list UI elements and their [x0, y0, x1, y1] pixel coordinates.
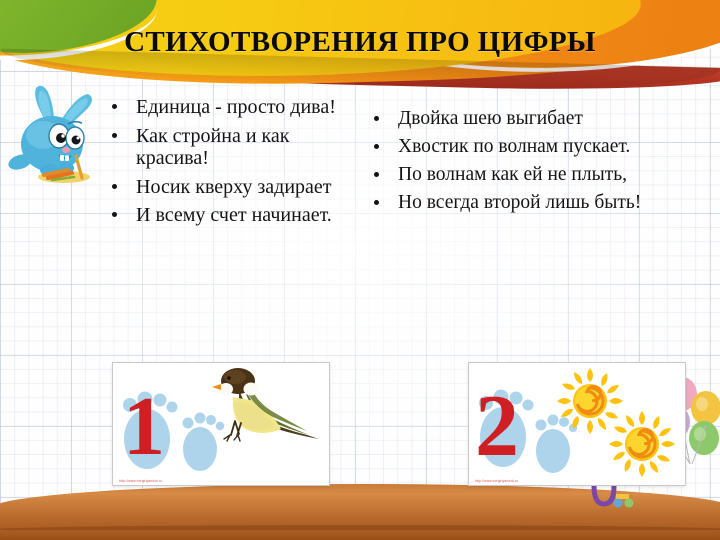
list-item: И всему счет начинает.	[100, 204, 350, 227]
list-item: Носик кверху задирает	[100, 176, 350, 199]
page-title: СТИХОТВОРЕНИЯ ПРО ЦИФРЫ	[0, 26, 720, 59]
slide-canvas: СТИХОТВОРЕНИЯ ПРО ЦИФРЫ	[0, 0, 720, 540]
list-item: Хвостик по волнам пускает.	[362, 136, 662, 158]
list-item: Единица - просто дива!	[100, 96, 350, 119]
bunny-icon	[2, 82, 106, 186]
shelf-edge	[0, 525, 720, 530]
card-digit: 1	[123, 385, 165, 469]
poem-column-left: Единица - просто дива! Как стройна и как…	[100, 96, 350, 233]
list-item: Двойка шею выгибает	[362, 108, 662, 130]
card-watermark: http://www.mirgirlyandok.ru	[475, 479, 518, 483]
list-item: Как стройна и как красива!	[100, 125, 350, 170]
poem-right-list: Двойка шею выгибает Хвостик по волнам пу…	[362, 108, 662, 214]
card-digit: 2	[475, 385, 519, 469]
poem-column-right: Двойка шею выгибает Хвостик по волнам пу…	[362, 108, 662, 220]
bird-icon	[211, 367, 323, 445]
sun-icon	[609, 411, 675, 477]
list-item: По волнам как ей не плыть,	[362, 164, 662, 186]
picture-card-one: 1 http://www.mirgirlyandok.ru	[112, 362, 330, 486]
poem-left-list: Единица - просто дива! Как стройна и как…	[100, 96, 350, 227]
toy-cart-icon	[590, 484, 638, 514]
picture-card-two: 2	[468, 362, 686, 486]
card-watermark: http://www.mirgirlyandok.ru	[119, 479, 162, 483]
list-item: Но всегда второй лишь быть!	[362, 192, 662, 214]
